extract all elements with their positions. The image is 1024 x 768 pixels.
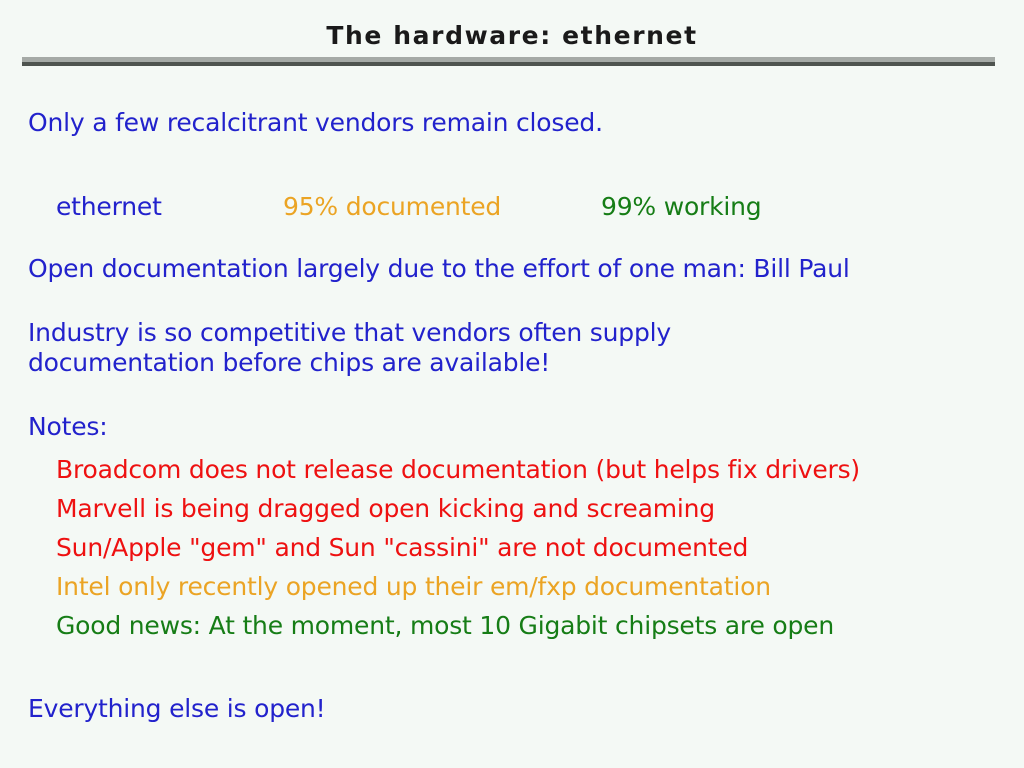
note-item: Good news: At the moment, most 10 Gigabi… bbox=[56, 611, 834, 641]
status-row-working: 99% working bbox=[601, 192, 761, 222]
note-item: Sun/Apple "gem" and Sun "cassini" are no… bbox=[56, 533, 748, 563]
status-row-label: ethernet bbox=[56, 192, 162, 222]
note-item: Marvell is being dragged open kicking an… bbox=[56, 494, 715, 524]
note-item: Broadcom does not release documentation … bbox=[56, 455, 860, 485]
slide-body: Only a few recalcitrant vendors remain c… bbox=[0, 0, 1024, 768]
slide: The hardware: ethernet Only a few recalc… bbox=[0, 0, 1024, 768]
industry-paragraph: Industry is so competitive that vendors … bbox=[28, 318, 928, 378]
note-item: Intel only recently opened up their em/f… bbox=[56, 572, 771, 602]
intro-text: Only a few recalcitrant vendors remain c… bbox=[28, 108, 603, 138]
industry-paragraph-line-1: Industry is so competitive that vendors … bbox=[28, 318, 928, 348]
outro-text: Everything else is open! bbox=[28, 694, 326, 724]
status-row-documented: 95% documented bbox=[283, 192, 501, 222]
notes-heading: Notes: bbox=[28, 412, 107, 442]
industry-paragraph-line-2: documentation before chips are available… bbox=[28, 348, 928, 378]
open-documentation-text: Open documentation largely due to the ef… bbox=[28, 254, 850, 284]
